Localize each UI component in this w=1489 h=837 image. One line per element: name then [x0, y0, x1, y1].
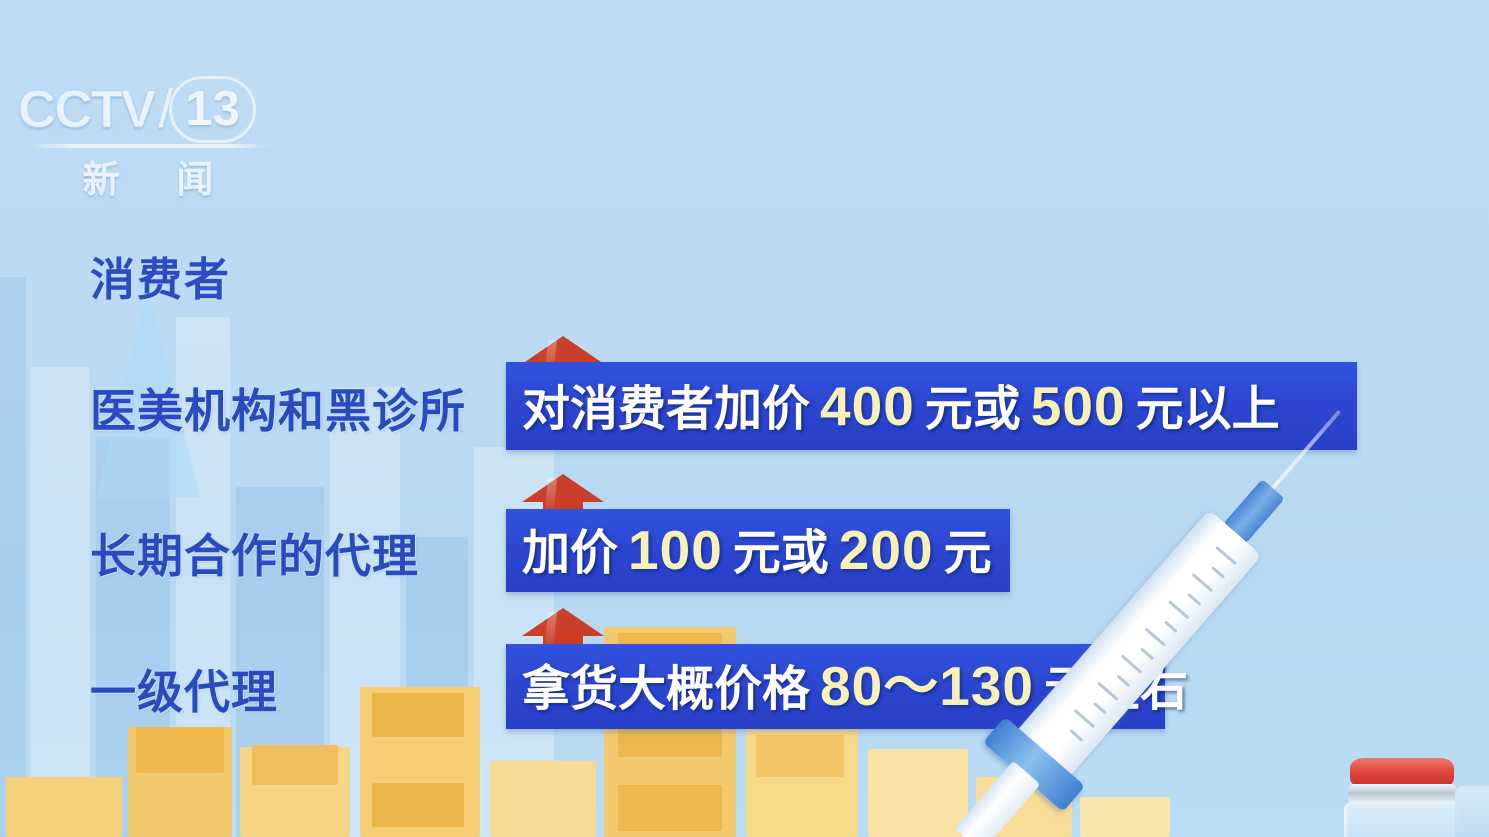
page-title: 消费者	[90, 243, 231, 308]
vial-glass-body	[1344, 802, 1460, 837]
broadcast-graphic-stage: CCTV / 13 新 闻 消费者 医美机构和黑诊所 对消费者加价400元或50…	[0, 0, 1489, 837]
tier-banner-text-1: 加价100元或200元	[522, 523, 992, 578]
cctv-wordmark: CCTV	[18, 83, 154, 136]
tier-row-1: 长期合作的代理	[90, 520, 419, 586]
tier-row-0: 医美机构和黑诊所	[90, 375, 466, 441]
tier-row-2: 一级代理	[90, 656, 278, 722]
tier-banner-1: 加价100元或200元	[506, 509, 1010, 592]
vaccine-vial-secondary	[1455, 786, 1489, 837]
cctv13-logo: CCTV / 13 新 闻	[18, 78, 278, 203]
syringe-illustration	[1130, 400, 1489, 820]
tier-label-0: 医美机构和黑诊所	[90, 375, 466, 441]
vaccine-vial-illustration	[1338, 758, 1470, 837]
channel-subtitle: 新 闻	[18, 149, 278, 203]
tier-label-2: 一级代理	[90, 656, 278, 722]
syringe-needle	[1265, 410, 1341, 497]
logo-underline	[28, 144, 272, 148]
channel-number: 13	[175, 85, 254, 134]
logo-slash: /	[158, 78, 173, 140]
vial-metal-ring	[1348, 784, 1456, 804]
tier-label-1: 长期合作的代理	[90, 520, 419, 586]
